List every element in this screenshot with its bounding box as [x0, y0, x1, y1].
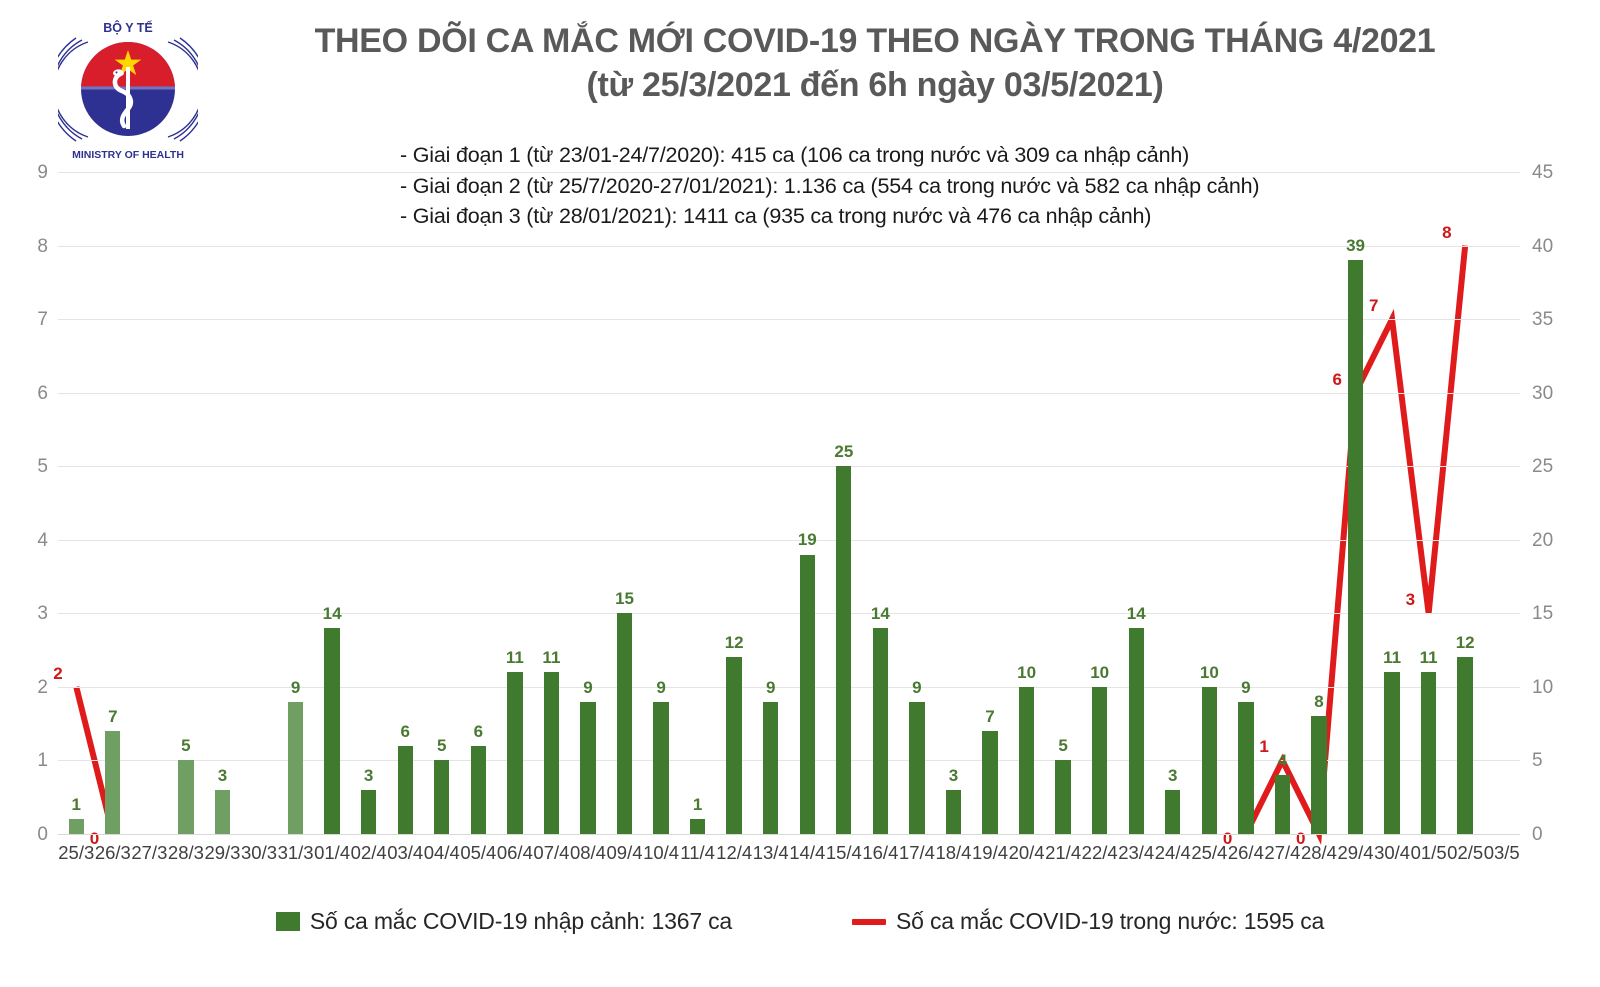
gridline	[58, 760, 1520, 761]
bar-imported-cases	[1202, 687, 1217, 834]
bar-imported-cases	[909, 702, 924, 834]
bar-imported-cases	[580, 702, 595, 834]
x-axis-tick: 09/4	[606, 844, 643, 863]
x-axis: 25/326/327/328/329/330/331/301/402/403/4…	[58, 834, 1520, 874]
x-axis-tick: 04/4	[424, 844, 461, 863]
x-axis-tick: 02/5	[1447, 844, 1484, 863]
legend-item-domestic: Số ca mắc COVID-19 trong nước: 1595 ca	[852, 908, 1324, 935]
bar-imported-cases	[617, 613, 632, 834]
y-axis-left-tick: 4	[8, 531, 48, 550]
y-axis-right-tick: 45	[1532, 163, 1577, 182]
legend-bar-swatch-icon	[276, 912, 300, 931]
line-value-label: 8	[1429, 224, 1466, 241]
legend-line-swatch-icon	[852, 919, 886, 925]
bar-value-label: 9	[643, 679, 680, 696]
logo-emblem-icon: BỘ Y TẾ MINISTRY OF HEALTH	[58, 12, 198, 167]
bar-value-label: 9	[277, 679, 314, 696]
x-axis-tick: 19/4	[972, 844, 1009, 863]
bar-value-label: 5	[168, 737, 205, 754]
bar-imported-cases	[836, 466, 851, 834]
x-axis-tick: 12/4	[716, 844, 753, 863]
x-axis-tick: 06/4	[497, 844, 534, 863]
bar-value-label: 9	[752, 679, 789, 696]
bar-imported-cases	[1311, 716, 1326, 834]
x-axis-tick: 30/4	[1374, 844, 1411, 863]
bar-imported-cases	[1421, 672, 1436, 834]
bar-imported-cases	[1275, 775, 1290, 834]
bar-value-label: 1	[679, 796, 716, 813]
gridline	[58, 613, 1520, 614]
logo-top-text: BỘ Y TẾ	[103, 20, 153, 35]
bar-imported-cases	[324, 628, 339, 834]
gridline	[58, 246, 1520, 247]
logo-bottom-text: MINISTRY OF HEALTH	[72, 149, 184, 161]
bar-value-label: 14	[1118, 605, 1155, 622]
gridline	[58, 319, 1520, 320]
y-axis-right-tick: 30	[1532, 384, 1577, 403]
bar-imported-cases	[873, 628, 888, 834]
x-axis-tick: 26/4	[1228, 844, 1265, 863]
bar-value-label: 1	[58, 796, 95, 813]
x-axis-tick: 03/4	[387, 844, 424, 863]
y-axis-right-tick: 15	[1532, 604, 1577, 623]
ministry-of-health-logo: BỘ Y TẾ MINISTRY OF HEALTH	[58, 12, 198, 167]
bar-value-label: 5	[424, 737, 461, 754]
x-axis-tick: 03/5	[1483, 844, 1520, 863]
bar-value-label: 12	[1447, 634, 1484, 651]
bar-imported-cases	[1055, 760, 1070, 834]
bar-imported-cases	[1165, 790, 1180, 834]
x-axis-tick: 17/4	[899, 844, 936, 863]
bar-value-label: 10	[1081, 664, 1118, 681]
line-value-label: 6	[1319, 371, 1356, 388]
y-axis-right-tick: 10	[1532, 678, 1577, 697]
bar-imported-cases	[946, 790, 961, 834]
y-axis-left-tick: 7	[8, 310, 48, 329]
bar-value-label: 5	[1045, 737, 1082, 754]
y-axis-right-tick: 0	[1532, 825, 1577, 844]
x-axis-tick: 27/3	[131, 844, 168, 863]
bar-imported-cases	[1238, 702, 1253, 834]
x-axis-tick: 08/4	[570, 844, 607, 863]
note-phase-1: - Giai đoạn 1 (từ 23/01-24/7/2020): 415 …	[400, 140, 1460, 171]
bar-imported-cases	[1019, 687, 1034, 834]
bar-value-label: 39	[1337, 237, 1374, 254]
bar-value-label: 3	[350, 767, 387, 784]
chart-title-line-1: THEO DÕI CA MẮC MỚI COVID-19 THEO NGÀY T…	[210, 20, 1540, 64]
x-axis-tick: 13/4	[752, 844, 789, 863]
y-axis-left-tick: 0	[8, 825, 48, 844]
y-axis-right-tick: 40	[1532, 237, 1577, 256]
bar-value-label: 3	[204, 767, 241, 784]
bar-imported-cases	[288, 702, 303, 834]
y-axis-right-tick: 35	[1532, 310, 1577, 329]
x-axis-tick: 31/3	[277, 844, 314, 863]
gridline	[58, 466, 1520, 467]
bar-value-label: 14	[314, 605, 351, 622]
bar-value-label: 9	[899, 679, 936, 696]
bar-imported-cases	[763, 702, 778, 834]
bar-value-label: 12	[716, 634, 753, 651]
bar-value-label: 15	[606, 590, 643, 607]
legend-bar-label: Số ca mắc COVID-19 nhập cảnh: 1367 ca	[310, 908, 732, 935]
line-value-label: 7	[1356, 297, 1393, 314]
x-axis-tick: 11/4	[679, 844, 716, 863]
chart-title-line-2: (từ 25/3/2021 đến 6h ngày 03/5/2021)	[210, 64, 1540, 108]
x-axis-tick: 14/4	[789, 844, 826, 863]
y-axis-right-tick: 5	[1532, 751, 1577, 770]
bar-imported-cases	[690, 819, 705, 834]
x-axis-tick: 27/4	[1264, 844, 1301, 863]
x-axis-tick: 21/4	[1045, 844, 1082, 863]
bar-value-label: 11	[1410, 649, 1447, 666]
bar-value-label: 3	[935, 767, 972, 784]
x-axis-tick: 29/4	[1337, 844, 1374, 863]
bar-value-label: 14	[862, 605, 899, 622]
line-value-label: 2	[40, 665, 77, 682]
bar-value-label: 7	[972, 708, 1009, 725]
gridline	[58, 172, 1520, 173]
bar-value-label: 25	[826, 443, 863, 460]
bar-imported-cases	[398, 746, 413, 834]
x-axis-tick: 10/4	[643, 844, 680, 863]
x-axis-tick: 05/4	[460, 844, 497, 863]
domestic-cases-line-series	[58, 172, 1520, 834]
x-axis-tick: 18/4	[935, 844, 972, 863]
y-axis-left-tick: 3	[8, 604, 48, 623]
x-axis-tick: 25/3	[58, 844, 95, 863]
bar-value-label: 6	[387, 723, 424, 740]
legend-item-imported: Số ca mắc COVID-19 nhập cảnh: 1367 ca	[276, 908, 732, 935]
bar-imported-cases	[471, 746, 486, 834]
bar-value-label: 10	[1008, 664, 1045, 681]
bar-imported-cases	[544, 672, 559, 834]
x-axis-tick: 25/4	[1191, 844, 1228, 863]
bar-value-label: 11	[533, 649, 570, 666]
bar-value-label: 9	[570, 679, 607, 696]
chart-title: THEO DÕI CA MẮC MỚI COVID-19 THEO NGÀY T…	[210, 20, 1540, 107]
y-axis-right-tick: 20	[1532, 531, 1577, 550]
bar-value-label: 7	[95, 708, 132, 725]
x-axis-tick: 26/3	[95, 844, 132, 863]
x-axis-tick: 07/4	[533, 844, 570, 863]
bar-imported-cases	[726, 657, 741, 834]
bar-imported-cases	[800, 555, 815, 835]
x-axis-tick: 01/4	[314, 844, 351, 863]
bar-imported-cases	[105, 731, 120, 834]
x-axis-tick: 23/4	[1118, 844, 1155, 863]
bar-value-label: 11	[497, 649, 534, 666]
bar-imported-cases	[653, 702, 668, 834]
x-axis-tick: 22/4	[1081, 844, 1118, 863]
bar-value-label: 11	[1374, 649, 1411, 666]
bar-value-label: 8	[1301, 693, 1338, 710]
x-axis-tick: 29/3	[204, 844, 241, 863]
bar-imported-cases	[1457, 657, 1472, 834]
bar-imported-cases	[178, 760, 193, 834]
bar-value-label: 3	[1155, 767, 1192, 784]
bar-imported-cases	[507, 672, 522, 834]
y-axis-left-tick: 5	[8, 457, 48, 476]
bar-imported-cases	[215, 790, 230, 834]
y-axis-left-tick: 9	[8, 163, 48, 182]
bar-imported-cases	[434, 760, 449, 834]
bar-imported-cases	[1129, 628, 1144, 834]
y-axis-left-tick: 1	[8, 751, 48, 770]
x-axis-tick: 28/3	[168, 844, 205, 863]
chart-page: BỘ Y TẾ MINISTRY OF HEALTH THEO DÕI CA M…	[0, 0, 1600, 987]
chart-legend: Số ca mắc COVID-19 nhập cảnh: 1367 ca Số…	[0, 908, 1600, 935]
x-axis-tick: 28/4	[1301, 844, 1338, 863]
bar-imported-cases	[1384, 672, 1399, 834]
bar-value-label: 9	[1228, 679, 1265, 696]
y-axis-left-tick: 8	[8, 237, 48, 256]
gridline	[58, 393, 1520, 394]
x-axis-tick: 24/4	[1155, 844, 1192, 863]
y-axis-left-tick: 6	[8, 384, 48, 403]
line-value-label: 1	[1246, 738, 1283, 755]
bar-imported-cases	[1348, 260, 1363, 834]
x-axis-tick: 16/4	[862, 844, 899, 863]
x-axis-tick: 02/4	[350, 844, 387, 863]
y-axis-right-tick: 25	[1532, 457, 1577, 476]
x-axis-tick: 15/4	[826, 844, 863, 863]
bar-value-label: 6	[460, 723, 497, 740]
bar-imported-cases	[982, 731, 997, 834]
x-axis-tick: 30/3	[241, 844, 278, 863]
x-axis-tick: 01/5	[1410, 844, 1447, 863]
line-value-label: 3	[1392, 591, 1429, 608]
bar-imported-cases	[1092, 687, 1107, 834]
bar-value-label: 19	[789, 531, 826, 548]
bar-imported-cases	[361, 790, 376, 834]
x-axis-tick: 20/4	[1008, 844, 1045, 863]
legend-line-label: Số ca mắc COVID-19 trong nước: 1595 ca	[896, 908, 1324, 935]
bar-value-label: 10	[1191, 664, 1228, 681]
plot-area: 0123456789051015202530354045175391436561…	[58, 172, 1520, 834]
